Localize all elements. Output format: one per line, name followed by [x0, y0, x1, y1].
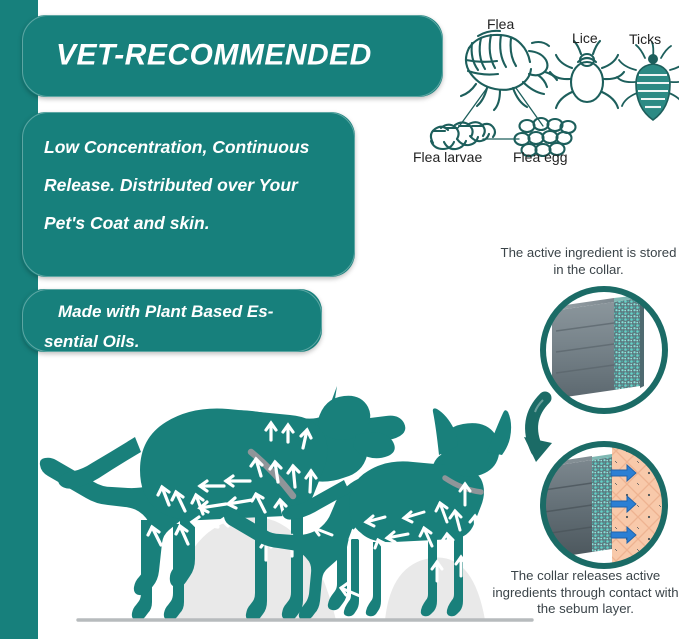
infographic-canvas: VET-RECOMMENDED Low Concentration, Conti… — [0, 0, 679, 639]
collar-release-diagram — [540, 440, 679, 570]
flow-arrow-icon — [524, 398, 552, 462]
collar-storage-diagram — [543, 289, 665, 411]
collar-mechanism-layer — [0, 0, 679, 639]
